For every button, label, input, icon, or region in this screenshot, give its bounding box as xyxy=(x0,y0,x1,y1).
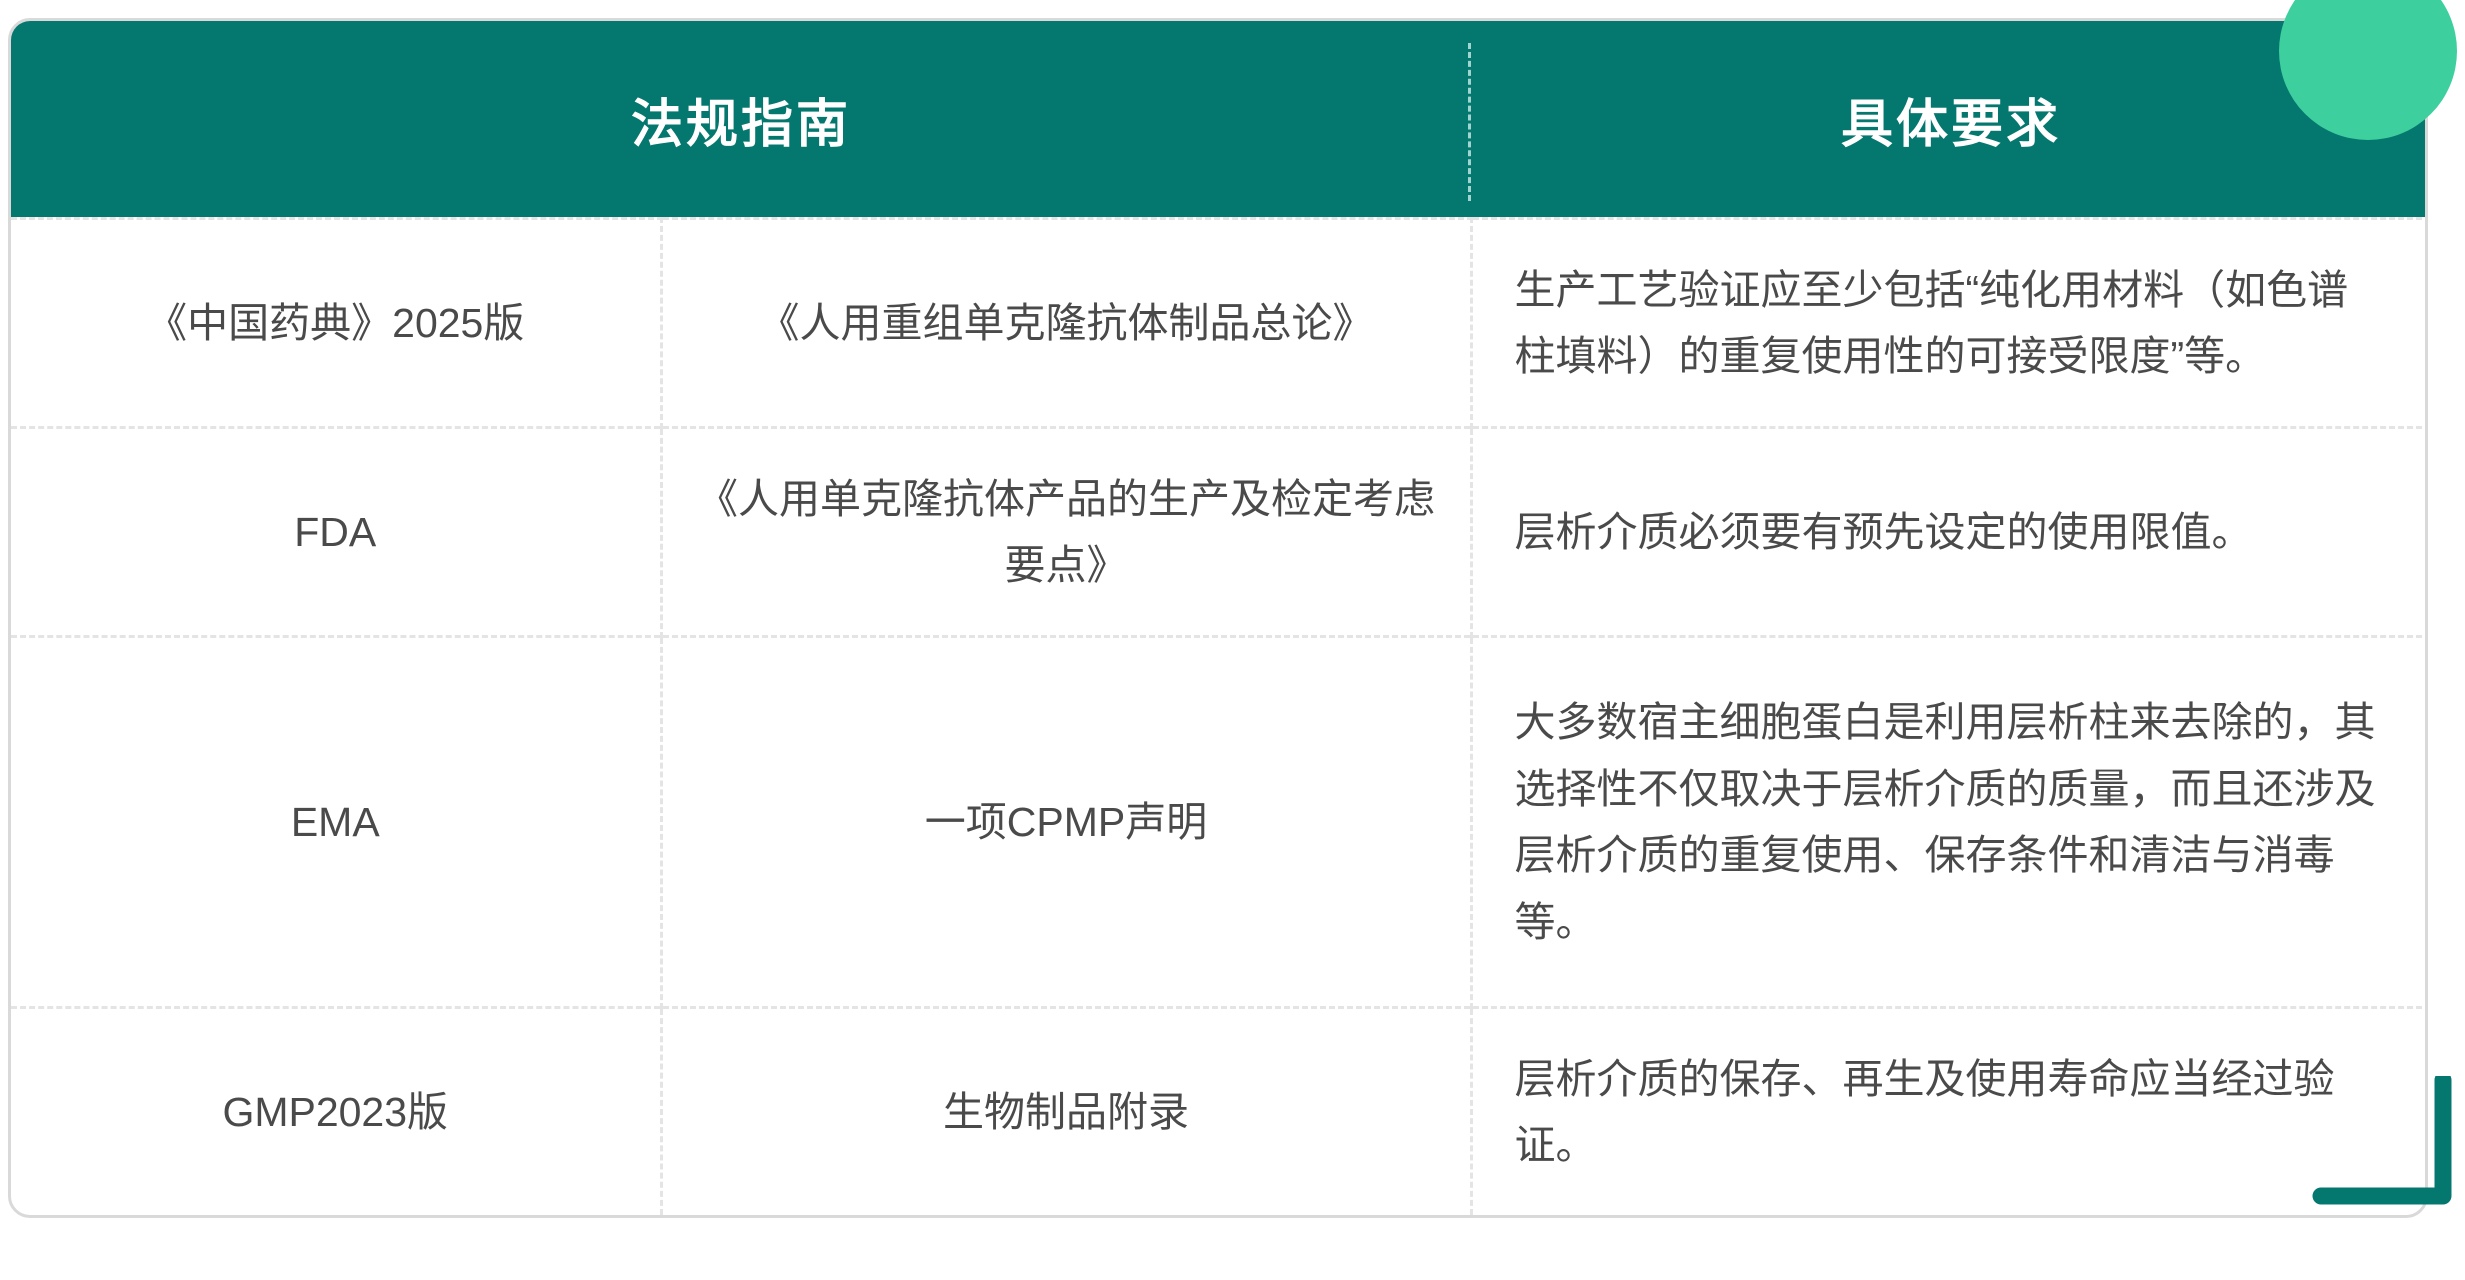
cell-requirement: 生产工艺验证应至少包括“纯化用材料（如色谱柱填料）的重复使用性的可接受限度”等。 xyxy=(1471,219,2428,428)
table-body: 《中国药典》2025版 《人用重组单克隆抗体制品总论》 生产工艺验证应至少包括“… xyxy=(11,219,2428,1216)
column-header-guideline: 法规指南 xyxy=(11,21,1471,219)
regulation-table-card: 法规指南 具体要求 《中国药典》2025版 《人用重组单克隆抗体制品总论》 生产… xyxy=(8,18,2428,1218)
column-header-guideline-label: 法规指南 xyxy=(631,96,851,154)
cell-guideline: GMP2023版 xyxy=(11,1008,661,1215)
table-row: 《中国药典》2025版 《人用重组单克隆抗体制品总论》 生产工艺验证应至少包括“… xyxy=(11,219,2428,428)
table-header-row: 法规指南 具体要求 xyxy=(11,21,2428,219)
table-infographic: 法规指南 具体要求 《中国药典》2025版 《人用重组单克隆抗体制品总论》 生产… xyxy=(0,0,2465,1280)
cell-requirement: 层析介质必须要有预先设定的使用限值。 xyxy=(1471,428,2428,637)
cell-document: 《人用单克隆抗体产品的生产及检定考虑要点》 xyxy=(661,428,1471,637)
column-header-requirement-label: 具体要求 xyxy=(1841,96,2061,154)
cell-requirement: 大多数宿主细胞蛋白是利用层析柱来去除的，其选择性不仅取决于层析介质的质量，而且还… xyxy=(1471,637,2428,1008)
cell-document: 生物制品附录 xyxy=(661,1008,1471,1215)
table-row: FDA 《人用单克隆抗体产品的生产及检定考虑要点》 层析介质必须要有预先设定的使… xyxy=(11,428,2428,637)
cell-guideline: EMA xyxy=(11,637,661,1008)
table-header: 法规指南 具体要求 xyxy=(11,21,2428,219)
table-row: GMP2023版 生物制品附录 层析介质的保存、再生及使用寿命应当经过验证。 xyxy=(11,1008,2428,1215)
cell-document: 《人用重组单克隆抗体制品总论》 xyxy=(661,219,1471,428)
cell-requirement: 层析介质的保存、再生及使用寿命应当经过验证。 xyxy=(1471,1008,2428,1215)
table-row: EMA 一项CPMP声明 大多数宿主细胞蛋白是利用层析柱来去除的，其选择性不仅取… xyxy=(11,637,2428,1008)
cell-document: 一项CPMP声明 xyxy=(661,637,1471,1008)
cell-guideline: FDA xyxy=(11,428,661,637)
regulation-table: 法规指南 具体要求 《中国药典》2025版 《人用重组单克隆抗体制品总论》 生产… xyxy=(11,21,2428,1215)
cell-guideline: 《中国药典》2025版 xyxy=(11,219,661,428)
